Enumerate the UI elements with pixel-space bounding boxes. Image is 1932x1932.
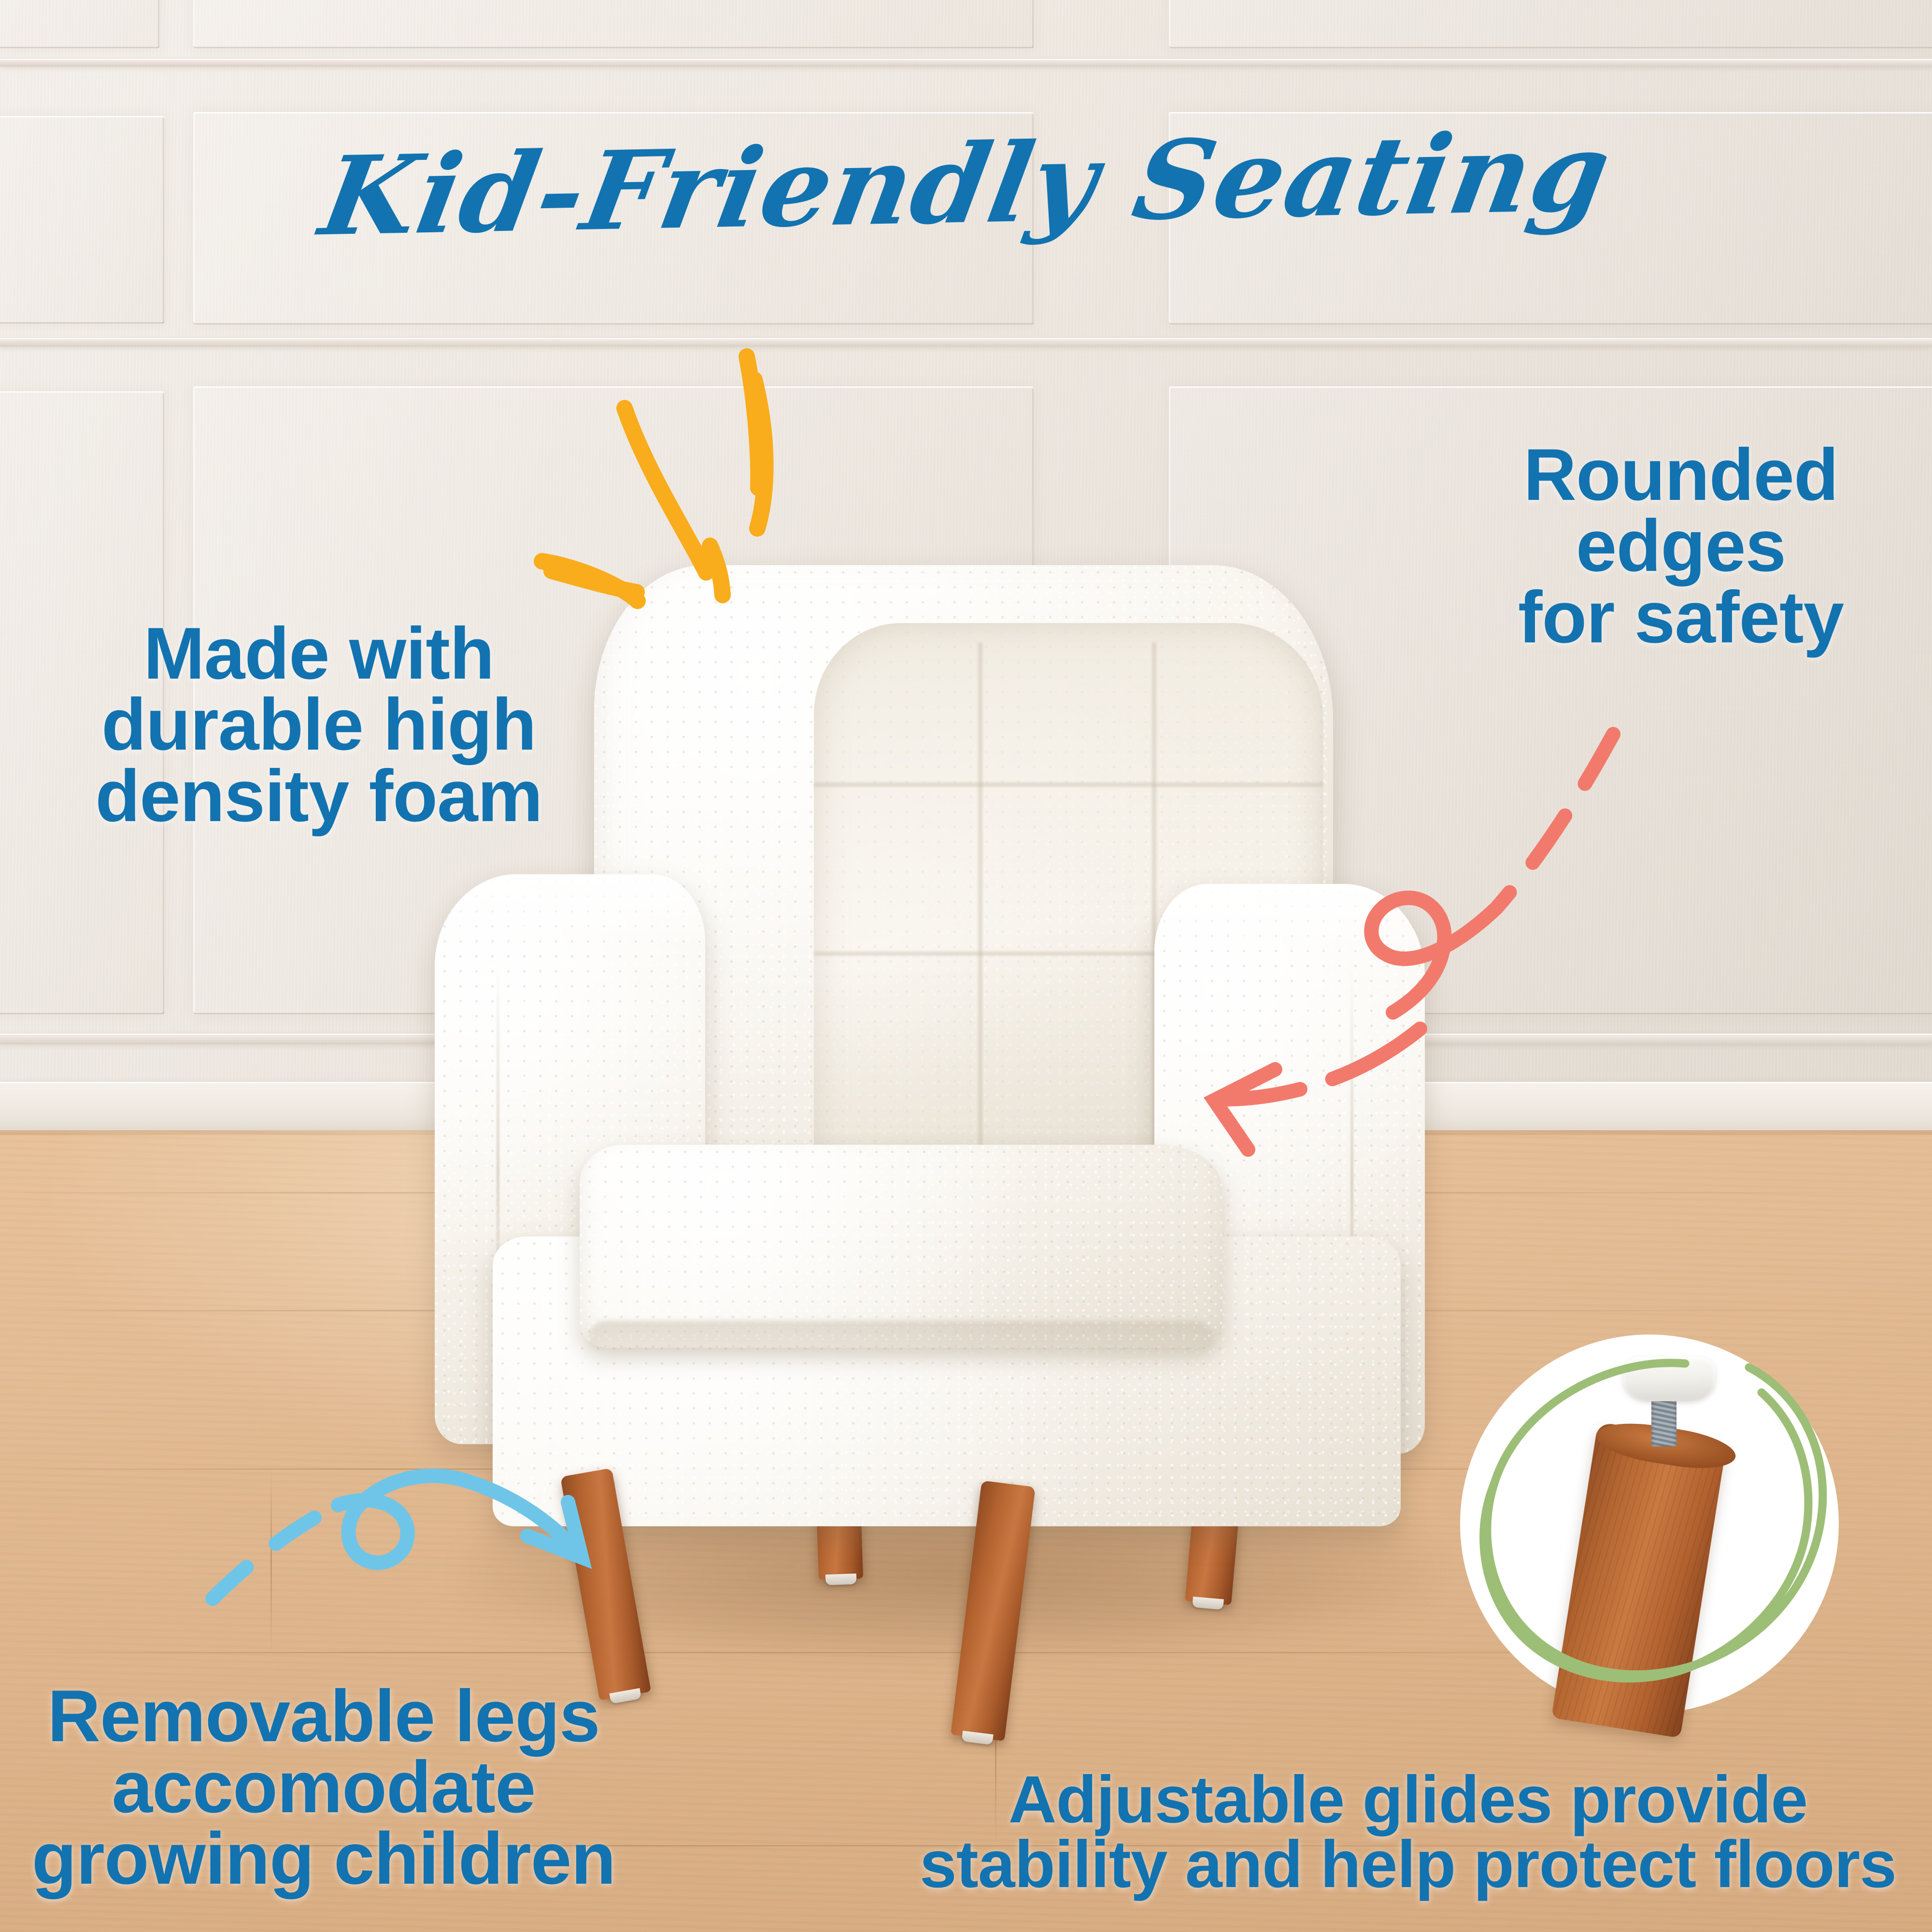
leg-glide	[825, 1574, 857, 1585]
wall-panel-upper-1	[0, 0, 159, 48]
armchair	[435, 565, 1454, 1744]
arm-highlight	[1154, 884, 1425, 1038]
wall-rail-upper	[0, 59, 1932, 67]
wall-panel-upper-2	[193, 0, 1034, 48]
callout-legs: Removable legs accomodate growing childr…	[10, 1681, 638, 1894]
inset-threaded-screw	[1651, 1393, 1676, 1447]
callout-edges-line-2: edges	[1439, 511, 1922, 582]
glide-detail-inset	[1437, 1311, 1862, 1736]
arm-highlight	[435, 874, 705, 1034]
callout-foam-line-1: Made with	[63, 618, 575, 689]
callout-edges-line-1: Rounded	[1439, 440, 1922, 511]
tuft-seam	[814, 782, 1323, 787]
wall-panel-upper-3	[1169, 0, 1932, 48]
callout-edges: Rounded edges for safety	[1439, 440, 1922, 653]
callout-foam-line-2: durable high	[63, 689, 575, 760]
cushion-shadow-lip	[589, 1321, 1212, 1355]
tuft-seam	[978, 642, 982, 1154]
inset-white-glide	[1623, 1357, 1715, 1401]
callout-foam: Made with durable high density foam	[63, 618, 575, 832]
callout-glides-line-1: Adjustable glides provide	[889, 1768, 1927, 1833]
boucle-texture	[580, 1145, 1222, 1348]
callout-glides-line-2: stability and help protect floors	[889, 1833, 1927, 1897]
callout-foam-line-3: density foam	[63, 761, 575, 832]
callout-legs-line-3: growing children	[10, 1823, 638, 1894]
callout-legs-line-2: accomodate	[10, 1752, 638, 1823]
callout-edges-line-3: for safety	[1439, 582, 1922, 653]
infographic-canvas: Kid-Friendly Seating Made with durable h…	[0, 0, 1932, 1932]
wall-rail-mid	[0, 338, 1932, 347]
callout-glides: Adjustable glides provide stability and …	[889, 1768, 1927, 1897]
callout-legs-line-1: Removable legs	[10, 1681, 638, 1752]
chair-seat-cushion	[580, 1145, 1222, 1348]
leg-glide	[962, 1731, 994, 1745]
